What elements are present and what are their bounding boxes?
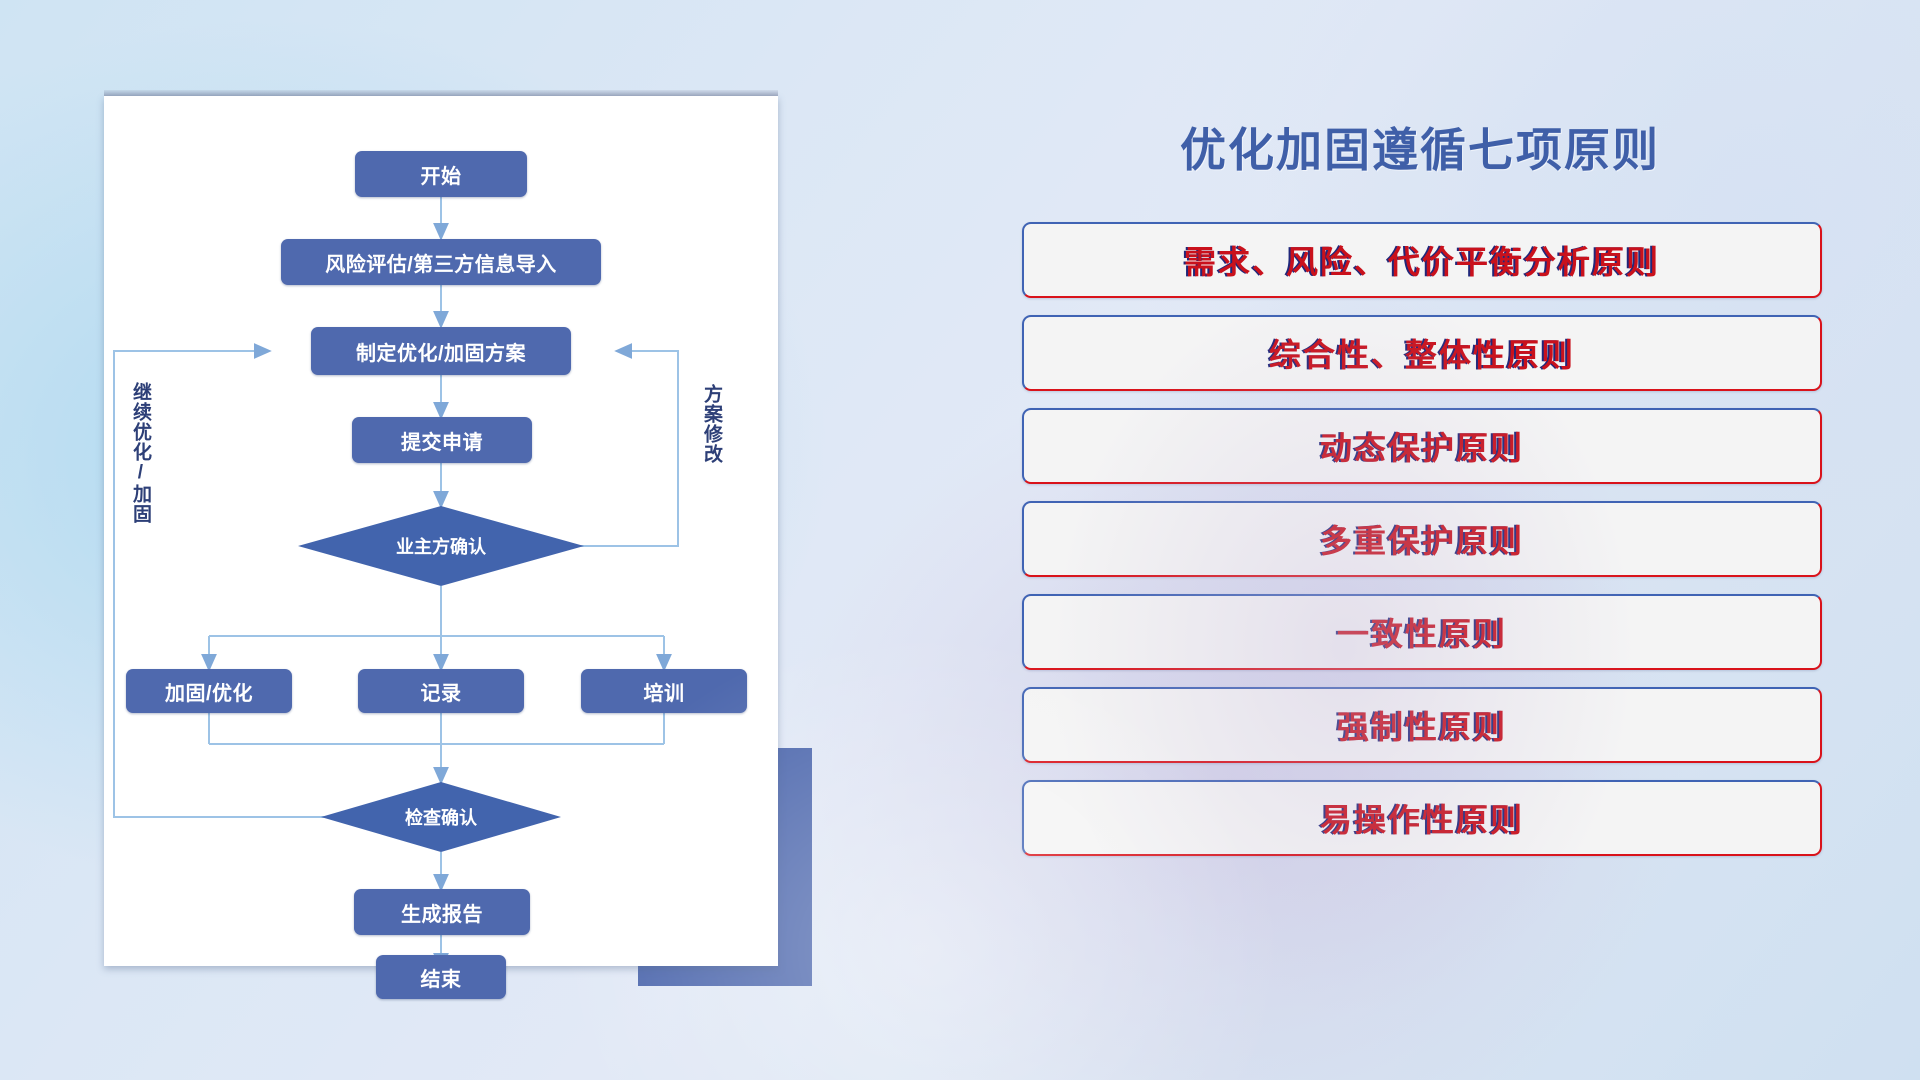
flow-node-risk-assessment-label: 风险评估/第三方信息导入: [325, 248, 557, 277]
flow-node-owner-confirm-label-wrap: 业主方确认: [351, 530, 531, 562]
flow-node-submit-application-label: 提交申请: [401, 426, 483, 455]
principle-card-4[interactable]: 多重保护原则: [1022, 501, 1822, 577]
principle-label-6: 强制性原则: [1337, 702, 1507, 748]
principle-label-1: 需求、风险、代价平衡分析原则: [1184, 237, 1660, 283]
flow-node-check-confirm-label: 检查确认: [405, 804, 477, 830]
slide-canvas: 开始 风险评估/第三方信息导入 制定优化/加固方案 提交申请 业主方确认 加固/…: [0, 0, 1920, 1080]
flow-node-risk-assessment[interactable]: 风险评估/第三方信息导入: [281, 239, 601, 285]
flow-node-start-label: 开始: [421, 160, 462, 189]
principle-card-1[interactable]: 需求、风险、代价平衡分析原则: [1022, 222, 1822, 298]
principle-card-3[interactable]: 动态保护原则: [1022, 408, 1822, 484]
principle-label-2: 综合性、整体性原则: [1269, 330, 1575, 376]
flow-node-start[interactable]: 开始: [355, 151, 527, 197]
flow-node-record-label: 记录: [421, 677, 462, 706]
principle-card-2[interactable]: 综合性、整体性原则: [1022, 315, 1822, 391]
principles-title: 优化加固遵循七项原则: [1000, 114, 1840, 180]
flow-node-submit-application[interactable]: 提交申请: [352, 417, 532, 463]
flow-node-training[interactable]: 培训: [581, 669, 747, 713]
flow-node-reinforce-label: 加固/优化: [165, 677, 253, 706]
flow-node-generate-report[interactable]: 生成报告: [354, 889, 530, 935]
flow-node-training-label: 培训: [644, 677, 685, 706]
flow-node-end-label: 结束: [421, 963, 462, 992]
principle-label-3: 动态保护原则: [1320, 423, 1524, 469]
principle-card-6[interactable]: 强制性原则: [1022, 687, 1822, 763]
flow-node-plan[interactable]: 制定优化/加固方案: [311, 327, 571, 375]
flow-node-owner-confirm-label: 业主方确认: [396, 533, 486, 559]
principle-card-5[interactable]: 一致性原则: [1022, 594, 1822, 670]
flow-node-end[interactable]: 结束: [376, 955, 506, 999]
principle-card-7[interactable]: 易操作性原则: [1022, 780, 1822, 856]
principle-label-4: 多重保护原则: [1320, 516, 1524, 562]
flow-node-plan-label: 制定优化/加固方案: [356, 337, 526, 366]
edge-label-plan-revision: 方案修改: [701, 384, 721, 499]
edge-label-continue-optimize: 继续优化/加固: [130, 382, 150, 542]
flowchart-card: 开始 风险评估/第三方信息导入 制定优化/加固方案 提交申请 业主方确认 加固/…: [104, 96, 778, 966]
principles-pane: 优化加固遵循七项原则 需求、风险、代价平衡分析原则 综合性、整体性原则 动态保护…: [1000, 96, 1840, 1016]
principle-label-5: 一致性原则: [1337, 609, 1507, 655]
flow-node-record[interactable]: 记录: [358, 669, 524, 713]
flow-node-reinforce[interactable]: 加固/优化: [126, 669, 292, 713]
flow-node-generate-report-label: 生成报告: [401, 898, 483, 927]
flow-node-check-confirm-label-wrap: 检查确认: [351, 802, 531, 832]
principles-list: 需求、风险、代价平衡分析原则 综合性、整体性原则 动态保护原则 多重保护原则 一…: [1022, 222, 1822, 873]
principle-label-7: 易操作性原则: [1320, 795, 1524, 841]
